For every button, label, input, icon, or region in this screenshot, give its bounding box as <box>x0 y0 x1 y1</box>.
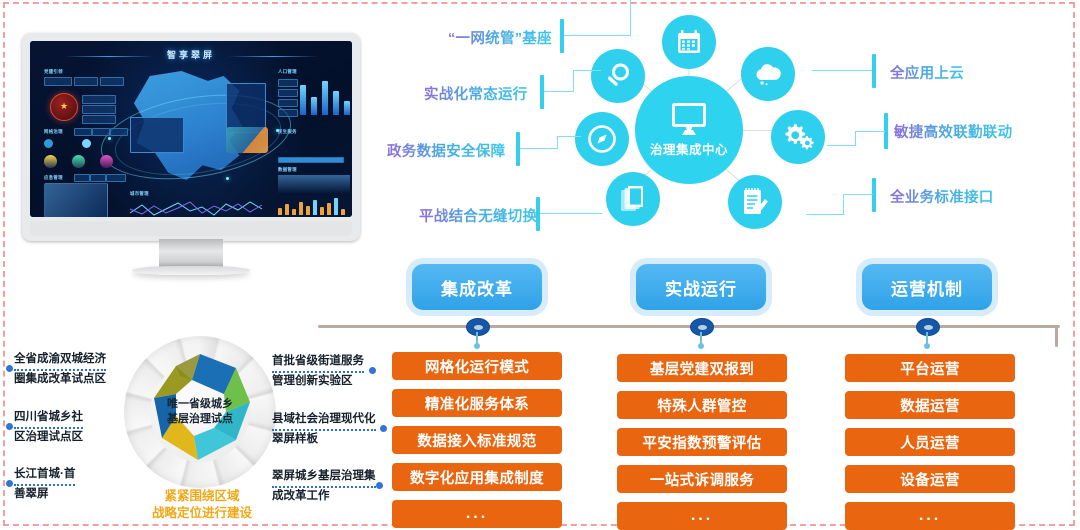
hub-label-right-1: 敏捷高效联勤联动 <box>894 121 1012 142</box>
hub-label-left-1: 实战化常态运行 <box>424 83 528 104</box>
panel-label: 民生服务 <box>278 129 297 135</box>
hub-label-bar <box>540 75 544 109</box>
hub-leader-line <box>806 214 844 215</box>
pinwheel-diagram: 唯一省级城乡 基层治理试点 <box>124 336 276 488</box>
item-box[interactable]: 网格化运行模式 <box>392 352 562 380</box>
hub-label-right-2: 全业务标准接口 <box>890 186 994 207</box>
compass-icon <box>587 124 617 154</box>
pinwheel-label-line1: 首批省级街道服务 <box>272 353 364 373</box>
kpi-dot <box>44 139 53 148</box>
pinwheel-label-dot <box>380 425 387 432</box>
item-box[interactable]: ... <box>392 500 562 528</box>
monitor-chin <box>30 221 352 236</box>
pin-dot <box>698 343 704 349</box>
pinwheel-label-line2: 管理创新实验区 <box>272 375 353 387</box>
monitor-screen: 智享翠屏 党建引领 网格治理 <box>30 41 352 217</box>
panel-label: 应急管理 <box>44 175 63 181</box>
kpi-dot <box>82 139 91 148</box>
hub-center-label: 治理集成中心 <box>650 139 728 158</box>
search-icon <box>604 62 632 90</box>
pin-marker-1[interactable] <box>690 318 714 336</box>
pinwheel-label-left-1: 四川省城乡社 区治理试点区 <box>14 409 83 445</box>
column-header-1[interactable]: 实战运行 <box>636 264 766 310</box>
pinwheel-label-right-1: 县域社会治理现代化 翠屏样板 <box>272 411 376 447</box>
hub-leader-line <box>827 145 856 146</box>
pinwheel-label-dot <box>6 365 13 372</box>
panel-label: 党建引领 <box>44 69 63 75</box>
donut-chart <box>44 155 57 168</box>
notepad-pencil-icon <box>741 187 769 217</box>
party-emblem-icon <box>50 93 78 121</box>
hub-label-left-3: 平战结合无缝切换 <box>419 205 537 226</box>
pinwheel-label-line1: 县域社会治理现代化 <box>272 411 376 431</box>
map-tooltip <box>130 117 184 153</box>
legend-chip <box>278 109 298 117</box>
pin-dot <box>924 343 930 349</box>
item-box[interactable]: 平安指数预警评估 <box>617 428 787 456</box>
service-illustration <box>226 127 268 153</box>
dashboard-title: 智享翠屏 <box>30 48 352 61</box>
map-node <box>226 177 229 180</box>
hub-node-cloud[interactable] <box>741 47 795 101</box>
hub-label-bar <box>872 54 876 88</box>
item-box[interactable]: ... <box>617 502 787 530</box>
device-illustration <box>44 183 108 217</box>
population-bar-chart <box>300 77 350 115</box>
hub-label-right-0: 全应用上云 <box>890 62 964 83</box>
pinwheel-label-line1: 翠屏城乡基层治理集 <box>272 468 376 488</box>
hub-center-node[interactable]: 治理集成中心 <box>635 76 743 184</box>
hub-leader-line <box>843 194 844 214</box>
hub-leader-line <box>544 91 574 92</box>
pinwheel-label-line2: 区治理试点区 <box>14 431 83 443</box>
pin-marker-2[interactable] <box>916 318 940 336</box>
filter-chip <box>44 77 72 86</box>
item-box[interactable]: 数据运营 <box>845 391 1015 419</box>
pinwheel-caption-line1: 紧紧围绕区域 <box>112 488 292 505</box>
item-box[interactable]: 平台运营 <box>845 354 1015 382</box>
item-box[interactable]: 人员运营 <box>845 428 1015 456</box>
stacked-pages-icon <box>620 185 646 213</box>
item-box[interactable]: 数字化应用集成制度 <box>392 463 562 491</box>
tab-chip <box>74 128 92 136</box>
hub-node-notepad[interactable] <box>728 175 782 229</box>
slide-canvas: 智享翠屏 党建引领 网格治理 <box>0 0 1080 530</box>
item-box[interactable]: ... <box>845 502 1015 530</box>
pinwheel-label-line2: 成改革工作 <box>272 490 330 502</box>
filter-chip <box>74 77 98 86</box>
hub-label-bar <box>516 132 520 166</box>
area-chart <box>278 175 350 193</box>
pinwheel-center-line1: 唯一省级城乡 <box>167 397 233 412</box>
hub-leader-line <box>564 35 630 36</box>
pinwheel-center-text: 唯一省级城乡 基层治理试点 <box>167 397 233 427</box>
hub-node-gears[interactable] <box>771 110 825 164</box>
pinwheel-label-line1: 四川省城乡社 <box>14 409 83 429</box>
pinwheel-label-line2: 圈集成改革试点区 <box>14 373 106 385</box>
hub-leader-line <box>855 131 856 146</box>
pin-marker-0[interactable] <box>466 318 490 336</box>
monitor-stand-neck <box>159 239 223 269</box>
filter-chip <box>100 77 124 86</box>
calendar-icon <box>676 29 702 55</box>
tab-chip <box>106 174 126 182</box>
hub-label-bar <box>560 19 564 53</box>
hub-leader-line <box>843 194 873 195</box>
spoke <box>743 130 775 131</box>
stat-chip <box>82 115 116 124</box>
donut-chart <box>100 155 113 168</box>
hub-label-left-0: “一网统管”基座 <box>448 27 552 48</box>
hub-leader-line <box>855 131 885 132</box>
hub-leader-line <box>557 136 558 149</box>
progress-bar <box>278 157 344 163</box>
hub-node-calendar[interactable] <box>662 15 716 69</box>
pinwheel-label-right-2: 翠屏城乡基层治理集 成改革工作 <box>272 468 376 504</box>
pinwheel-label-dot <box>376 482 383 489</box>
dashboard: 智享翠屏 党建引领 网格治理 <box>30 41 352 217</box>
tab-chip <box>92 128 110 136</box>
pinwheel-label-left-2: 长江首城·首 善翠屏 <box>14 466 75 502</box>
monitor-mockup: 智享翠屏 党建引领 网格治理 <box>22 33 360 241</box>
pinwheel-label-line2: 翠屏样板 <box>272 433 318 445</box>
monitor-icon <box>669 102 709 136</box>
item-box[interactable]: 数据接入标准规范 <box>392 426 562 454</box>
pinwheel-label-dot <box>369 367 376 374</box>
pinwheel-caption: 紧紧围绕区域 战略定位进行建设 <box>112 488 292 522</box>
item-box[interactable]: 特殊人群管控 <box>617 391 787 419</box>
column-header-0[interactable]: 集成改革 <box>412 264 542 310</box>
pinwheel-label-right-0: 首批省级街道服务 管理创新实验区 <box>272 353 364 389</box>
panel-label: 数据管理 <box>278 167 297 173</box>
stat-chip <box>82 105 116 114</box>
map-node <box>108 137 111 140</box>
hub-leader-line <box>573 70 601 71</box>
trend-line-chart <box>128 197 264 217</box>
gears-icon <box>782 122 814 152</box>
tab-chip <box>90 174 106 182</box>
monitor-stand-base <box>132 266 250 275</box>
hub-label-bar <box>536 197 540 231</box>
legend-chip <box>278 99 298 107</box>
pinwheel-label-dot <box>6 423 13 430</box>
pinwheel-label-line1: 全省成渝双城经济 <box>14 351 106 371</box>
hub-leader-line <box>573 70 574 92</box>
hub-leader-line <box>812 70 872 71</box>
pinwheel-label-line1: 长江首城·首 <box>14 466 75 486</box>
legend-chip <box>278 79 298 87</box>
pinwheel-caption-line2: 战略定位进行建设 <box>112 505 292 522</box>
pinwheel-label-dot <box>6 480 13 487</box>
donut-chart <box>72 155 85 168</box>
hub-leader-line <box>557 136 581 137</box>
hub-node-search[interactable] <box>591 49 645 103</box>
item-box[interactable]: 精准化服务体系 <box>392 389 562 417</box>
map-side-panel <box>226 83 266 133</box>
pin-dot <box>474 343 480 349</box>
hub-label-left-2: 政务数据安全保障 <box>387 140 505 161</box>
hub-label-bar <box>872 178 876 212</box>
timeline-rail-end <box>1055 325 1058 347</box>
tab-chip <box>74 174 90 182</box>
hub-leader-line <box>630 0 631 36</box>
pinwheel-label-line2: 善翠屏 <box>14 488 49 500</box>
item-box[interactable]: 一站式诉调服务 <box>617 465 787 493</box>
hub-leader-line <box>540 213 602 214</box>
timeline-rail <box>318 325 1060 328</box>
hub-leader-line <box>520 148 558 149</box>
bar-chart <box>278 197 350 215</box>
stat-chip <box>82 95 116 104</box>
item-box[interactable]: 基层党建双报到 <box>617 354 787 382</box>
item-box[interactable]: 设备运营 <box>845 465 1015 493</box>
panel-label: 人口管理 <box>278 69 297 75</box>
column-header-2[interactable]: 运营机制 <box>862 264 992 310</box>
pinwheel-label-left-0: 全省成渝双城经济 圈集成改革试点区 <box>14 351 106 387</box>
legend-chip <box>278 89 298 97</box>
tab-chip <box>110 128 128 136</box>
panel-label: 网格治理 <box>44 129 63 135</box>
pinwheel-center-line2: 基层治理试点 <box>167 412 233 427</box>
cloud-icon <box>753 62 783 86</box>
hub-node-pages[interactable] <box>606 172 660 226</box>
hub-node-compass[interactable] <box>575 112 629 166</box>
